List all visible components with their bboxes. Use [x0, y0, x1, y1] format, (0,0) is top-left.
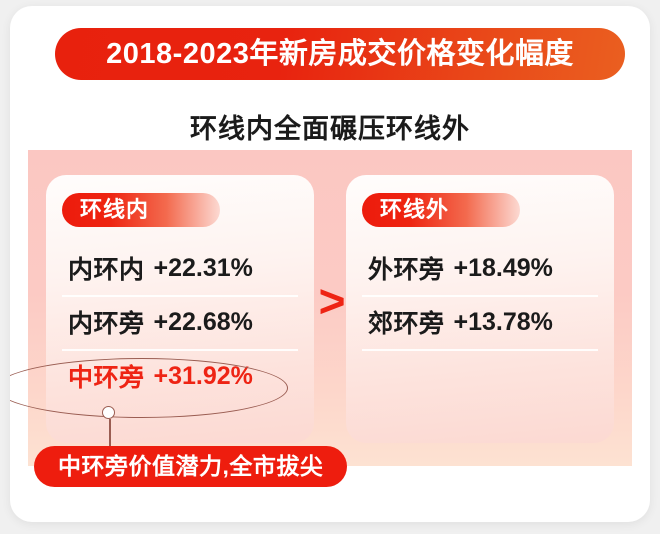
row-label: 中环旁 — [68, 358, 145, 394]
table-row: 内环内 +22.31% — [46, 241, 314, 295]
badge-inner: 环线内 — [62, 193, 220, 227]
row-value: +22.68% — [154, 308, 253, 337]
callout-label: 中环旁价值潜力,全市拔尖 — [58, 455, 323, 478]
table-row: 内环旁 +22.68% — [46, 295, 314, 349]
callout-pill: 中环旁价值潜力,全市拔尖 — [34, 446, 347, 487]
subtitle: 环线内全面碾压环线外 — [10, 107, 650, 146]
row-label: 外环旁 — [368, 250, 445, 286]
page-title: 2018-2023年新房成交价格变化幅度 — [106, 40, 574, 69]
comparison-panel: 环线内 内环内 +22.31% 内环旁 +22.68% 中环旁 +31.92% — [28, 150, 632, 466]
row-value: +22.31% — [154, 254, 253, 283]
connector-dot-icon — [102, 406, 115, 419]
badge-outer: 环线外 — [362, 193, 520, 227]
table-row: 郊环旁 +13.78% — [346, 295, 614, 349]
table-row-highlighted: 中环旁 +31.92% — [46, 349, 314, 403]
infographic-card: 2018-2023年新房成交价格变化幅度 环线内全面碾压环线外 环线内 内环内 … — [10, 6, 650, 522]
region-card-inner: 环线内 内环内 +22.31% 内环旁 +22.68% 中环旁 +31.92% — [46, 175, 314, 443]
table-row: 外环旁 +18.49% — [346, 241, 614, 295]
row-value: +31.92% — [154, 362, 253, 391]
greater-than-icon: > — [314, 278, 350, 324]
title-banner: 2018-2023年新房成交价格变化幅度 — [55, 28, 625, 80]
rows-outer: 外环旁 +18.49% 郊环旁 +13.78% — [346, 241, 614, 403]
region-card-outer: 环线外 外环旁 +18.49% 郊环旁 +13.78% — [346, 175, 614, 443]
rows-inner: 内环内 +22.31% 内环旁 +22.68% 中环旁 +31.92% — [46, 241, 314, 403]
row-value: +18.49% — [454, 254, 553, 283]
badge-outer-label: 环线外 — [380, 199, 449, 221]
row-label: 内环旁 — [68, 304, 145, 340]
row-label: 内环内 — [68, 250, 145, 286]
row-label: 郊环旁 — [368, 304, 445, 340]
table-row-empty — [346, 349, 614, 403]
row-value: +13.78% — [454, 308, 553, 337]
badge-inner-label: 环线内 — [80, 199, 149, 221]
